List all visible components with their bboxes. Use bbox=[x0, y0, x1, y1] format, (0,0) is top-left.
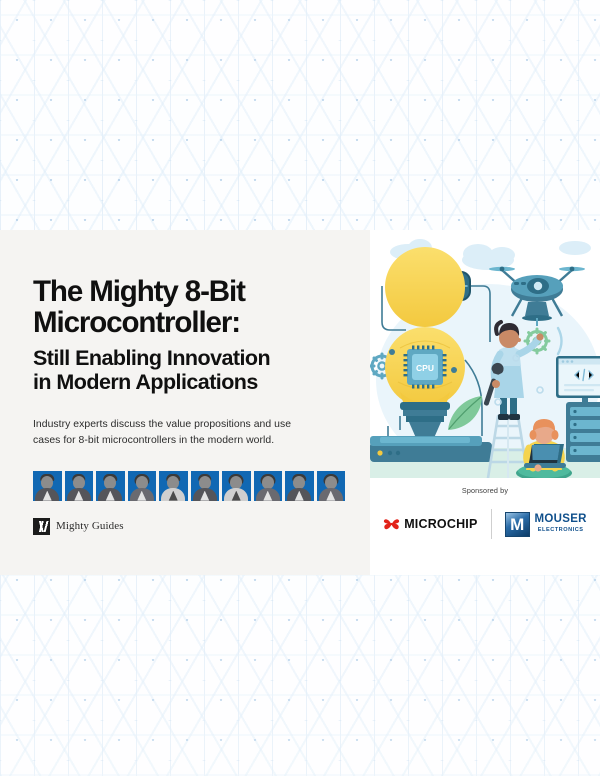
contributor-avatars bbox=[33, 471, 370, 501]
mouser-m-square-icon: M bbox=[505, 512, 530, 537]
cover-left-panel: The Mighty 8-Bit Microcontroller: Still … bbox=[0, 230, 370, 575]
microchip-wordmark: MICROCHIP bbox=[404, 518, 477, 531]
iot-engineering-illustration: CPU bbox=[370, 230, 600, 478]
mouser-tagline: ELECTRONICS bbox=[535, 528, 587, 534]
publisher-name: Mighty Guides bbox=[56, 520, 124, 532]
publisher-logo: Mighty Guides bbox=[33, 518, 370, 535]
mighty-guides-mark-icon bbox=[33, 518, 50, 535]
avatar bbox=[317, 471, 346, 501]
microchip-butterfly-icon bbox=[383, 516, 400, 533]
avatar bbox=[254, 471, 283, 501]
avatar bbox=[222, 471, 251, 501]
sponsor-section: Sponsored by MICROCHIP bbox=[370, 486, 600, 539]
cover-card: The Mighty 8-Bit Microcontroller: Still … bbox=[0, 230, 600, 575]
sponsor-logos: MICROCHIP M MOUSER ELECTRONICS bbox=[370, 509, 600, 539]
avatar bbox=[159, 471, 188, 501]
avatar bbox=[65, 471, 94, 501]
avatar bbox=[191, 471, 220, 501]
sponsored-by-label: Sponsored by bbox=[370, 486, 600, 495]
page-title: The Mighty 8-Bit Microcontroller: bbox=[33, 276, 370, 339]
mouser-wordmark: MOUSER bbox=[535, 514, 587, 526]
avatar bbox=[285, 471, 314, 501]
cover-description: Industry experts discuss the value propo… bbox=[33, 417, 343, 449]
avatar bbox=[128, 471, 157, 501]
avatar bbox=[96, 471, 125, 501]
cpu-chip-label: CPU bbox=[416, 363, 434, 373]
sponsor-logo-mouser[interactable]: M MOUSER ELECTRONICS bbox=[492, 512, 600, 537]
mouser-mark-letter: M bbox=[510, 516, 524, 533]
avatar bbox=[33, 471, 62, 501]
cover-right-panel: CPU bbox=[370, 230, 600, 575]
page-subtitle: Still Enabling Innovation in Modern Appl… bbox=[33, 346, 370, 395]
sponsor-logo-microchip[interactable]: MICROCHIP bbox=[370, 516, 490, 533]
